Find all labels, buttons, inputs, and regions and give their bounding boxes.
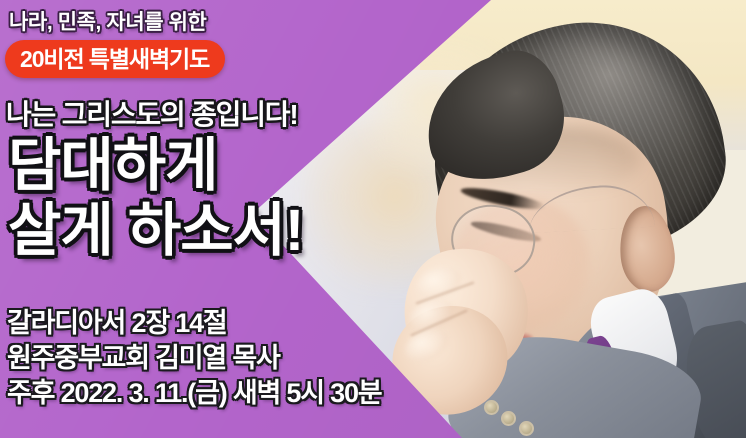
headline-line-2: 살게 하소서!	[8, 203, 303, 258]
banner-canvas: 나라, 민족, 자녀를 위한 20비전 특별새벽기도 나는 그리스도의 종입니다…	[0, 0, 746, 438]
footer-block: 갈라디아서 2장 14절 원주중부교회 김미열 목사 주후 2022. 3. 1…	[7, 308, 381, 410]
scripture-reference: 갈라디아서 2장 14절	[7, 308, 381, 340]
headline-block: 담대하게 살게 하소서!	[8, 138, 303, 258]
subheadline-text: 나는 그리스도의 종입니다!	[6, 93, 297, 133]
event-title-badge-label: 20비전 특별새벽기도	[20, 48, 209, 71]
date-and-time: 주후 2022. 3. 11.(금) 새벽 5시 30분	[7, 378, 381, 410]
kicker-text: 나라, 민족, 자녀를 위한	[9, 6, 206, 36]
banner-text-content: 나라, 민족, 자녀를 위한 20비전 특별새벽기도 나는 그리스도의 종입니다…	[0, 0, 746, 438]
event-title-badge: 20비전 특별새벽기도	[5, 40, 225, 78]
church-and-speaker: 원주중부교회 김미열 목사	[7, 343, 381, 375]
headline-line-1: 담대하게	[8, 138, 303, 193]
